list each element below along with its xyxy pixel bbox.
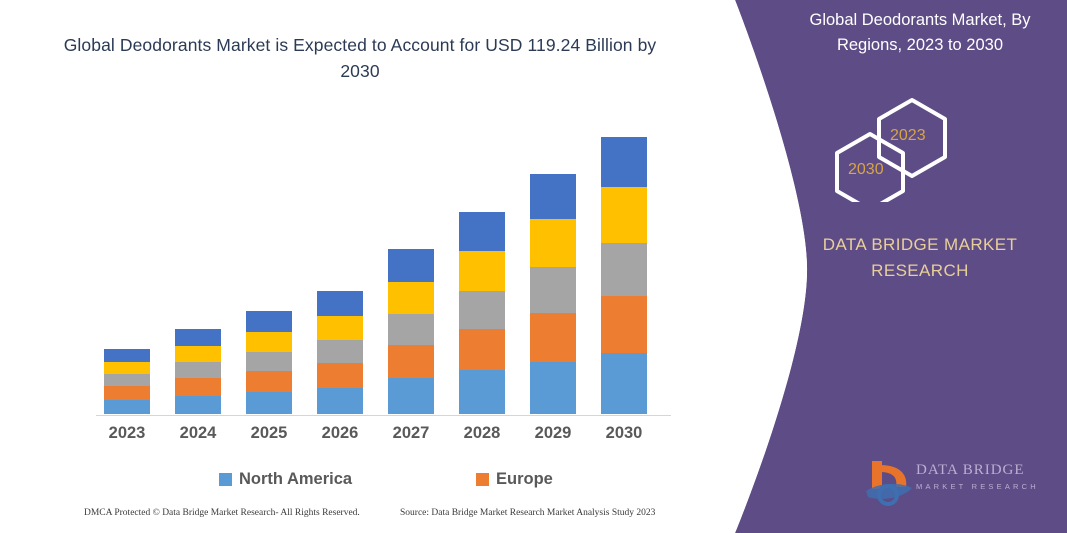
brand-name: DATA BRIDGE MARKET RESEARCH xyxy=(790,232,1050,285)
bar-segment-series5 xyxy=(104,349,150,362)
bar-segment-series5 xyxy=(459,212,505,251)
bar-segment-series3 xyxy=(175,362,221,378)
legend-label-europe: Europe xyxy=(496,470,553,489)
brand-line-1: DATA BRIDGE MARKET xyxy=(790,232,1050,258)
bar-segment-series4 xyxy=(104,362,150,374)
hexagon-label-2030: 2030 xyxy=(848,161,884,179)
bar-2030[interactable] xyxy=(601,137,647,414)
legend-swatch-europe xyxy=(476,473,489,486)
hexagon-badges: 2023 2030 xyxy=(812,92,1002,202)
bar-2029[interactable] xyxy=(530,174,576,414)
bar-segment-series3 xyxy=(104,374,150,386)
bar-segment-north-america xyxy=(530,362,576,414)
x-tick-2026: 2026 xyxy=(304,424,376,443)
bar-segment-north-america xyxy=(246,392,292,414)
bar-segment-europe xyxy=(459,329,505,370)
x-tick-2025: 2025 xyxy=(233,424,305,443)
logo-b-arc-orange xyxy=(880,465,906,487)
bar-segment-series4 xyxy=(317,316,363,340)
x-tick-2029: 2029 xyxy=(517,424,589,443)
bar-segment-north-america xyxy=(601,353,647,414)
bar-segment-series4 xyxy=(530,219,576,267)
bar-segment-series3 xyxy=(601,243,647,296)
copyright-text: DMCA Protected © Data Bridge Market Rese… xyxy=(84,508,360,518)
legend-item-north-america[interactable]: North America xyxy=(219,470,352,489)
bar-segment-north-america xyxy=(317,388,363,414)
bar-segment-europe xyxy=(317,363,363,388)
bar-segment-north-america xyxy=(388,378,434,414)
bar-2023[interactable] xyxy=(104,349,150,414)
logo-wordmark: DATA BRIDGE MARKET RESEARCH xyxy=(916,462,1056,491)
bar-segment-series4 xyxy=(388,282,434,314)
bar-segment-north-america xyxy=(175,396,221,414)
bar-segment-series3 xyxy=(459,291,505,329)
bar-2028[interactable] xyxy=(459,212,505,414)
hexagon-label-2023: 2023 xyxy=(890,127,926,145)
legend-swatch-north-america xyxy=(219,473,232,486)
bar-segment-europe xyxy=(246,371,292,392)
bar-segment-series5 xyxy=(601,137,647,187)
x-tick-2023: 2023 xyxy=(91,424,163,443)
bar-segment-europe xyxy=(530,313,576,362)
infographic-root: Global Deodorants Market is Expected to … xyxy=(0,0,1067,533)
chart-pane: Global Deodorants Market is Expected to … xyxy=(0,0,720,533)
bar-segment-series4 xyxy=(246,332,292,352)
bar-2024[interactable] xyxy=(175,329,221,414)
legend-label-north-america: North America xyxy=(239,470,352,489)
bar-segment-north-america xyxy=(104,400,150,414)
bar-segment-series3 xyxy=(246,352,292,371)
bar-segment-europe xyxy=(388,345,434,378)
bar-segment-series5 xyxy=(388,249,434,282)
bar-segment-series3 xyxy=(317,340,363,363)
x-tick-2027: 2027 xyxy=(375,424,447,443)
bar-segment-europe xyxy=(601,296,647,353)
x-axis-line xyxy=(96,415,671,416)
x-tick-2024: 2024 xyxy=(162,424,234,443)
bar-segment-series4 xyxy=(601,187,647,243)
bar-segment-series4 xyxy=(175,346,221,362)
logo-sub-text: MARKET RESEARCH xyxy=(916,482,1056,491)
brand-line-2: RESEARCH xyxy=(790,258,1050,284)
bar-segment-north-america xyxy=(459,370,505,414)
bar-segment-series3 xyxy=(388,314,434,345)
bar-segment-series5 xyxy=(175,329,221,346)
bar-segment-europe xyxy=(104,386,150,400)
chart-plot-area xyxy=(96,100,671,416)
bar-segment-series4 xyxy=(459,251,505,291)
source-text: Source: Data Bridge Market Research Mark… xyxy=(400,508,655,518)
chart-legend: North America Europe xyxy=(96,470,671,494)
bar-segment-europe xyxy=(175,378,221,396)
page-title: Global Deodorants Market is Expected to … xyxy=(60,32,660,85)
bar-segment-series5 xyxy=(317,291,363,316)
bar-2025[interactable] xyxy=(246,311,292,414)
bar-segment-series5 xyxy=(246,311,292,332)
x-tick-2028: 2028 xyxy=(446,424,518,443)
x-tick-2030: 2030 xyxy=(588,424,660,443)
bar-segment-series3 xyxy=(530,267,576,313)
panel-heading: Global Deodorants Market, By Regions, 20… xyxy=(780,8,1060,58)
logo-main-text: DATA BRIDGE xyxy=(916,462,1056,479)
bar-2027[interactable] xyxy=(388,249,434,414)
x-axis-labels: 2023 2024 2025 2026 2027 2028 2029 2030 xyxy=(96,424,671,450)
bar-2026[interactable] xyxy=(317,291,363,414)
bar-segment-series5 xyxy=(530,174,576,219)
legend-item-europe[interactable]: Europe xyxy=(476,470,553,489)
footer: DMCA Protected © Data Bridge Market Rese… xyxy=(0,508,720,530)
bar-group xyxy=(96,100,671,415)
